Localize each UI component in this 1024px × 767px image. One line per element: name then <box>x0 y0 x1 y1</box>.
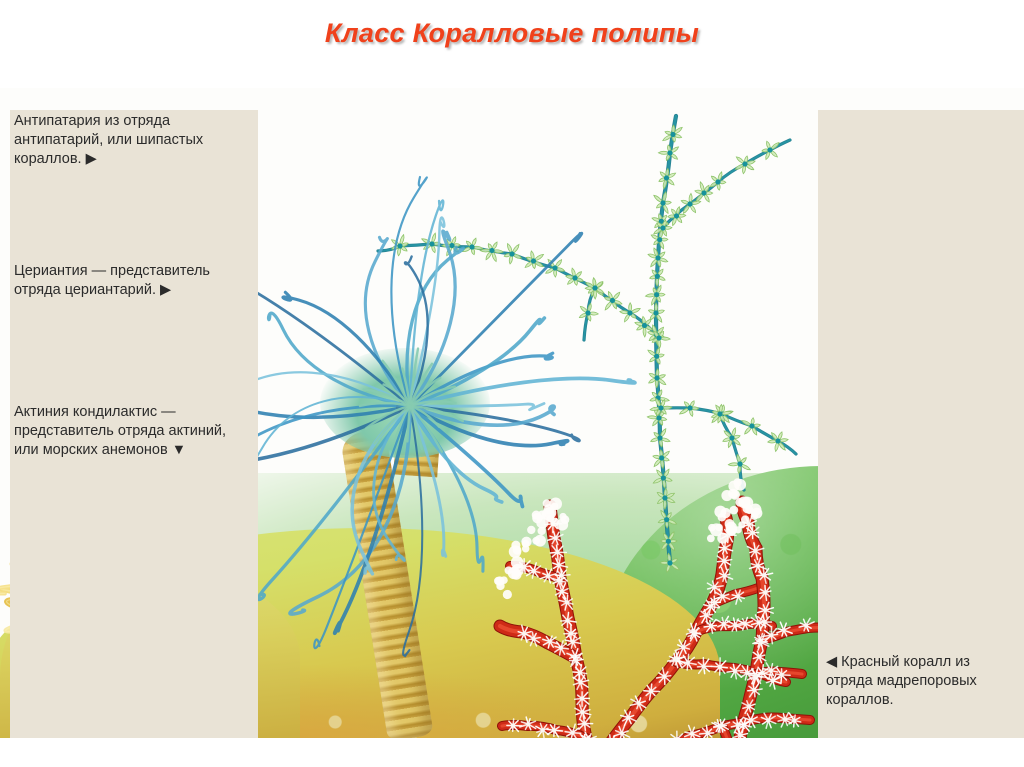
caption-red-coral: ◀ Красный коралл из отряда мадрепоровых … <box>826 653 1016 710</box>
red-coral-figure <box>490 418 850 738</box>
antipatharia-polyp <box>759 137 784 164</box>
red-coral-polyp <box>504 716 524 736</box>
right-caption-panel <box>818 110 1024 738</box>
caption-cerianthus: Цериантия — представитель отряда цериант… <box>14 262 242 300</box>
caption-actinia: Актиния кондилактис — представитель отря… <box>14 403 242 460</box>
caption-antipatharia: Антипатария из отряда антипатарий, или ш… <box>14 112 242 169</box>
antipatharia-polyp <box>733 154 757 176</box>
bottom-white-strip <box>0 738 1024 767</box>
red-coral-branches <box>490 418 850 738</box>
page-title: Класс Коралловые полипы <box>0 18 1024 49</box>
